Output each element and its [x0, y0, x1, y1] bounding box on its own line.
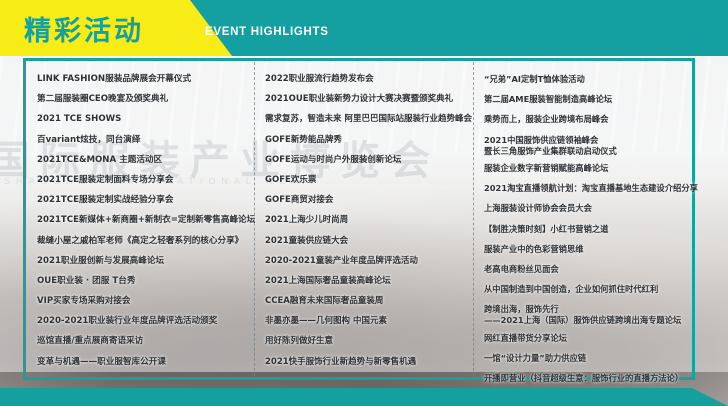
event-item: 用好陈列做好生意: [265, 336, 477, 347]
bottom-accent-bar: [0, 388, 728, 406]
event-item: 2022职业服流行趋势发布会: [265, 74, 477, 85]
event-item: 2021中国服饰供应链领袖峰会暨长三角服饰产业集群联动启动仪式: [484, 135, 692, 157]
event-item: 裁缝小屋之戚柏军老师《高定之轻奢系列的核心分享》: [37, 236, 259, 247]
event-item: 需求复苏，智造未来 阿里巴巴国际站服装行业趋势峰会: [265, 114, 477, 125]
event-item: 2021OUE职业装新势力设计大赛决赛暨颁奖典礼: [265, 94, 477, 105]
page-subtitle: EVENT HIGHLIGHTS: [205, 26, 329, 38]
event-item: 2020-2021职业装行业年度品牌评选活动颁奖: [37, 316, 259, 327]
event-item: 2021TCE服装定制面料专场分享会: [37, 175, 259, 186]
event-item: 变革与机遇——职业服智库公开课: [37, 357, 259, 368]
slide-root: 国际服装产业博览会 SHANGHAI INTERNATIONAL WEAR EX…: [0, 0, 728, 406]
event-item: “兄弟”AI定制T恤体验活动: [484, 74, 692, 85]
event-item: 从中国制造到中国创造，企业如何抓住时代红利: [484, 284, 692, 295]
event-item: 2021TCE&MONA 主题活动区: [37, 155, 259, 166]
event-column-1: LINK FASHION服装品牌展会开幕仪式第二届服装圈CEO晚宴及颁奖典礼20…: [37, 58, 259, 380]
event-item: GOFE新势能品牌秀: [265, 135, 477, 146]
event-item: 非墨亦墨——几何图构 中国元素: [265, 316, 477, 327]
event-item: 2021淘宝直播领航计划：淘宝直播基地生态建设介绍分享: [484, 183, 692, 194]
event-item: 跨境出海，服饰先行——2021上海（国际）服饰供应链跨境出海专题论坛: [484, 304, 692, 326]
event-column-3: “兄弟”AI定制T恤体验活动第二届AME服装智能制造高峰论坛乘势而上，服装企业跨…: [484, 58, 692, 380]
event-item: 百variant炫技，同台演绎: [37, 135, 259, 146]
event-item: 第二届服装圈CEO晚宴及颁奖典礼: [37, 94, 259, 105]
event-item: 乘势而上，服装企业跨境布局峰会: [484, 114, 692, 125]
event-item: 2021TCE服装定制实战经验分享会: [37, 195, 259, 206]
event-item: 一馆“设计力量”助力供应链: [484, 353, 692, 364]
event-item: 开播即营业（抖音超级生意：服饰行业的直播方法论）: [484, 373, 692, 384]
event-item: 2021快手服饰行业新趋势与新零售机遇: [265, 357, 477, 368]
event-item: OUE职业装 · 团服 T台秀: [37, 276, 259, 287]
event-item: 2020-2021童装产业年度品牌评选活动: [265, 256, 477, 267]
event-item: VIP买家专场采购对接会: [37, 296, 259, 307]
event-item: 2021 TCE SHOWS: [37, 114, 259, 125]
event-columns: LINK FASHION服装品牌展会开幕仪式第二届服装圈CEO晚宴及颁奖典礼20…: [23, 58, 695, 380]
page-title: 精彩活动: [24, 9, 144, 48]
event-item: LINK FASHION服装品牌展会开幕仪式: [37, 74, 259, 85]
event-item: CCEA融育未来国际奢品童装周: [265, 296, 477, 307]
event-item: GOFE商贸对接会: [265, 195, 477, 206]
event-item: 2021上海少儿时尚周: [265, 215, 477, 226]
event-item: 2021上海国际奢品童装高峰论坛: [265, 276, 477, 287]
event-item: 2021童装供应链大会: [265, 236, 477, 247]
event-item: 第二届AME服装智能制造高峰论坛: [484, 94, 692, 105]
event-item: 网红直播带货分享论坛: [484, 333, 692, 344]
event-item: 服装产业中的色彩营销思维: [484, 244, 692, 255]
event-item: 【制胜决策时刻】小红书营销之道: [484, 224, 692, 235]
event-item: 2021职业服创新与发展高峰论坛: [37, 256, 259, 267]
event-item: GOFE运动与时尚户外服装创新论坛: [265, 155, 477, 166]
event-item: GOFE欢乐票: [265, 175, 477, 186]
event-item: 服装企业数字新营销赋能高峰论坛: [484, 163, 692, 174]
event-column-2: 2022职业服流行趋势发布会2021OUE职业装新势力设计大赛决赛暨颁奖典礼需求…: [265, 58, 477, 380]
event-item: 2021TCE新媒体+新商圈+新制衣=定制新零售高峰论坛: [37, 215, 259, 226]
event-item: 上海服装设计师协会会员大会: [484, 203, 692, 214]
event-item: 老高电商粉丝见面会: [484, 264, 692, 275]
event-item: 巡馆直播/重点展商寄语采访: [37, 336, 259, 347]
